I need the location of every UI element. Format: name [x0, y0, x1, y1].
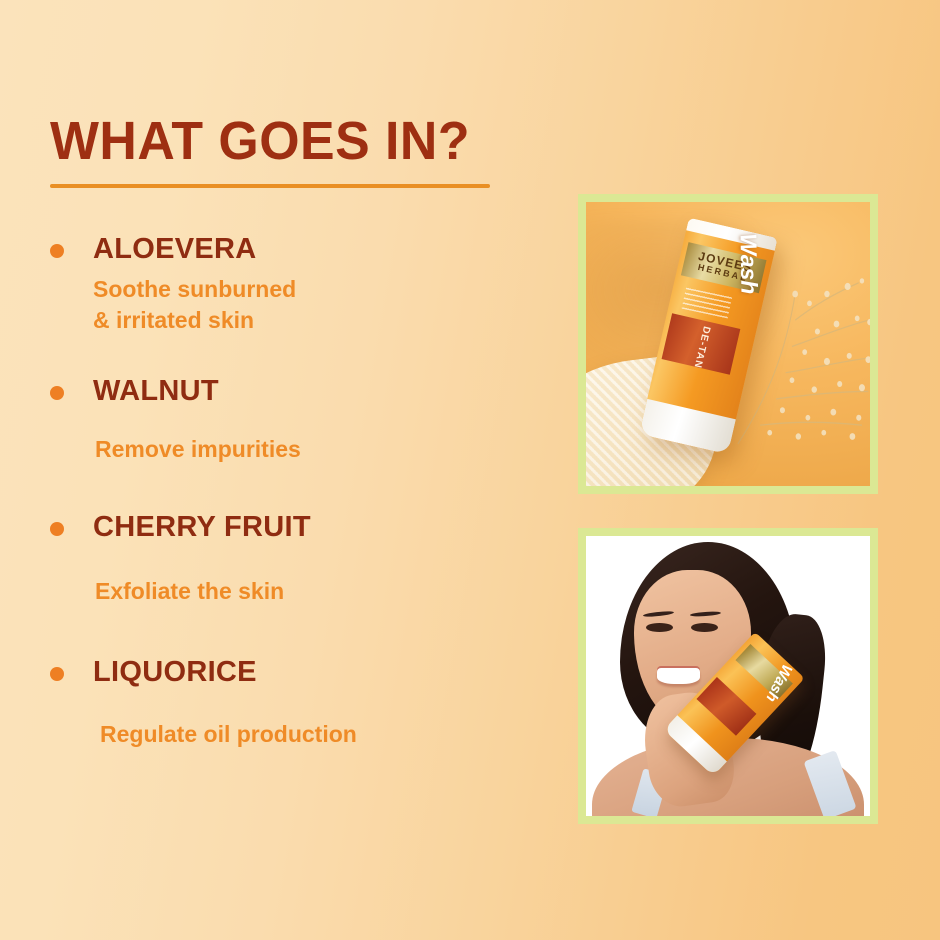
ingredient-benefit: Regulate oil production — [100, 719, 520, 750]
tube-description-text — [681, 285, 732, 319]
title-underline-rule — [50, 184, 490, 188]
ingredient-name: LIQUORICE — [93, 655, 520, 689]
ingredient-name: CHERRY FRUIT — [93, 510, 520, 544]
bullet-dot-icon — [50, 522, 64, 536]
list-item: WALNUT Remove impurities — [50, 374, 520, 465]
tube-variant-band — [696, 677, 756, 736]
page-title: WHAT GOES IN? — [50, 112, 501, 170]
ingredient-list: ALOEVERA Soothe sunburned & irritated sk… — [50, 232, 520, 750]
product-photo-card: JOVEES HERBAL DE-TAN Face Wash — [578, 194, 878, 494]
model-eye-right — [691, 623, 718, 632]
bullet-dot-icon — [50, 244, 64, 258]
product-photo: JOVEES HERBAL DE-TAN Face Wash — [586, 202, 870, 486]
model-eye-left — [646, 623, 673, 632]
model-smile — [657, 668, 700, 685]
bullet-dot-icon — [50, 386, 64, 400]
ingredient-name: WALNUT — [93, 374, 520, 408]
content-column: WHAT GOES IN? ALOEVERA Soothe sunburned … — [50, 112, 520, 756]
ingredient-benefit: Exfoliate the skin — [95, 576, 520, 607]
model-photo-card: Face Wash — [578, 528, 878, 824]
bullet-dot-icon — [50, 667, 64, 681]
model-photo: Face Wash — [586, 536, 870, 816]
ingredient-benefit: Soothe sunburned & irritated skin — [93, 274, 520, 336]
poster-canvas: WHAT GOES IN? ALOEVERA Soothe sunburned … — [0, 0, 940, 940]
ingredient-benefit: Remove impurities — [95, 434, 520, 465]
list-item: LIQUORICE Regulate oil production — [50, 655, 520, 750]
ingredient-name: ALOEVERA — [93, 232, 520, 266]
list-item: CHERRY FRUIT Exfoliate the skin — [50, 510, 520, 607]
list-item: ALOEVERA Soothe sunburned & irritated sk… — [50, 232, 520, 336]
